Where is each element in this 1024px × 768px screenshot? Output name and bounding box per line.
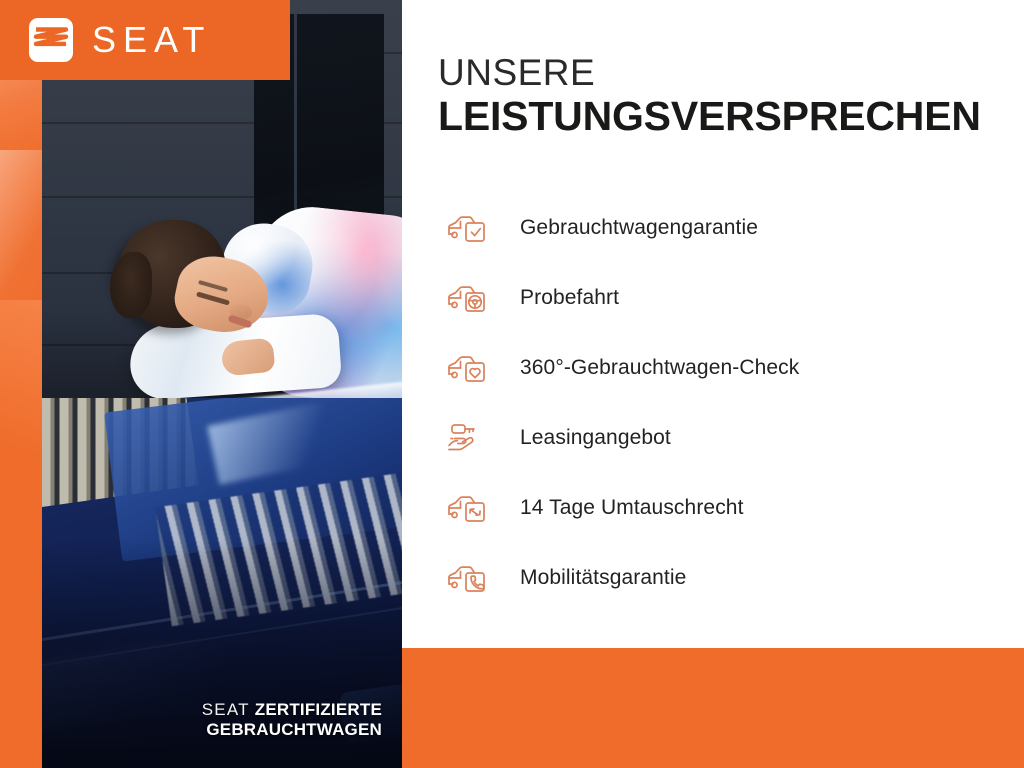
car-steering-wheel-icon	[446, 276, 492, 320]
seat-logo-bar: SEAT	[0, 0, 290, 80]
strip-texture-2	[0, 150, 42, 300]
content-panel: UNSERE LEISTUNGSVERSPRECHEN G	[402, 0, 1024, 648]
photo-caption: SEAT ZERTIFIZIERTE GEBRAUCHTWAGEN	[42, 700, 390, 740]
caption-line-1: SEAT ZERTIFIZIERTE	[42, 700, 382, 720]
list-item: 360°-Gebrauchtwagen-Check	[446, 333, 1006, 403]
car-exchange-arrows-icon	[446, 486, 492, 530]
headline-line-2: LEISTUNGSVERSPRECHEN	[438, 94, 981, 139]
list-item: 14 Tage Umtauschrecht	[446, 473, 1006, 543]
benefits-list: Gebrauchtwagengarantie	[446, 193, 1006, 613]
headline-line-1: UNSERE	[438, 54, 981, 92]
page-title: UNSERE LEISTUNGSVERSPRECHEN	[438, 54, 981, 139]
list-item-label: 14 Tage Umtauschrecht	[520, 496, 744, 520]
caption-bold-word: ZERTIFIZIERTE	[255, 700, 382, 719]
list-item: Probefahrt	[446, 263, 1006, 333]
car-checkmark-icon	[446, 206, 492, 250]
list-item: Mobilitätsgarantie	[446, 543, 1006, 613]
hero-photo: SEAT ZERTIFIZIERTE GEBRAUCHTWAGEN	[42, 0, 402, 768]
caption-line-2: GEBRAUCHTWAGEN	[42, 720, 382, 740]
list-item-label: 360°-Gebrauchtwagen-Check	[520, 356, 799, 380]
car-heart-icon	[446, 346, 492, 390]
person-resting-on-car	[102, 208, 402, 408]
list-item-label: Gebrauchtwagengarantie	[520, 216, 758, 240]
strip-texture-3	[0, 300, 42, 520]
bottom-orange-band	[402, 648, 1024, 768]
car-phone-icon	[446, 556, 492, 600]
list-item-label: Probefahrt	[520, 286, 619, 310]
list-item: Gebrauchtwagengarantie	[446, 193, 1006, 263]
hand-key-icon	[446, 416, 492, 460]
seat-s-emblem-icon	[28, 17, 74, 63]
person-hand	[220, 337, 275, 376]
list-item-label: Leasingangebot	[520, 426, 671, 450]
list-item: Leasingangebot	[446, 403, 1006, 473]
list-item-label: Mobilitätsgarantie	[520, 566, 686, 590]
promo-banner: SEAT ZERTIFIZIERTE GEBRAUCHTWAGEN UNSERE…	[0, 0, 1024, 768]
seat-wordmark: SEAT	[92, 19, 211, 61]
left-orange-strip	[0, 0, 42, 768]
caption-brand: SEAT	[202, 700, 250, 719]
